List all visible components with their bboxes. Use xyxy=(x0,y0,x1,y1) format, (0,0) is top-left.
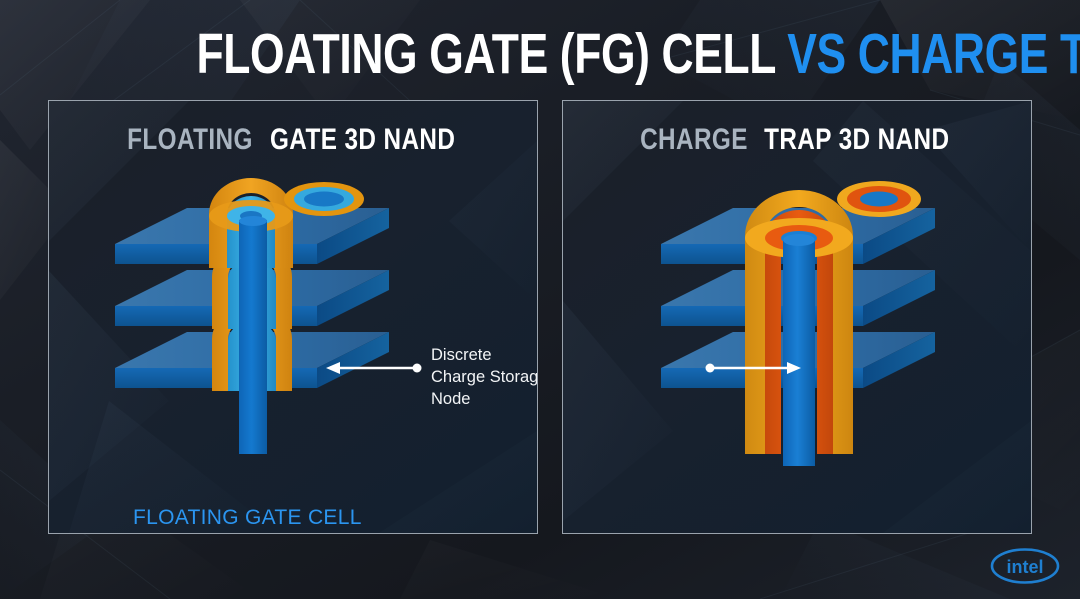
intel-logo: intel xyxy=(988,545,1062,587)
panel-left-header: FLOATING GATE 3D NAND xyxy=(49,123,537,157)
panel-right-header-bright: TRAP 3D NAND xyxy=(764,123,949,157)
list-left-title: FLOATING GATE CELL xyxy=(133,506,438,530)
ctf-channel-pillar xyxy=(783,239,815,466)
callout-left-line3: Node xyxy=(431,389,538,411)
panel-floating-gate: FLOATING GATE 3D NAND xyxy=(48,100,538,534)
page-title: FLOATING GATE (FG) CELL VS CHARGE TRAP F… xyxy=(0,26,1080,83)
callout-left-line2: Charge Storage xyxy=(431,367,538,389)
callout-discrete-charge-storage-node: Discrete Charge Storage Node xyxy=(431,345,538,411)
title-part-accent: VS CHARGE TRAP FLASH (CTF) CELL xyxy=(787,22,1080,86)
diagram-charge-trap-3d-nand xyxy=(633,176,963,481)
panel-right-header: CHARGE TRAP 3D NAND xyxy=(563,123,1031,157)
fg-torus-top-view xyxy=(284,182,364,216)
diagram-floating-gate-3d-nand xyxy=(87,176,417,481)
ctf-torus-top-view xyxy=(837,181,921,217)
list-floating-gate-cell: FLOATING GATE CELL ✓Good program/erase V… xyxy=(133,506,438,534)
panel-charge-trap: CHARGE TRAP 3D NAND xyxy=(562,100,1032,534)
fg-channel-pillar xyxy=(239,220,267,454)
panel-right-header-dim: CHARGE xyxy=(640,123,748,157)
panel-left-header-bright: GATE 3D NAND xyxy=(270,123,455,157)
leader-arrow-right xyxy=(703,356,803,380)
leader-arrow-left xyxy=(324,356,424,380)
title-part-primary: FLOATING GATE (FG) CELL xyxy=(196,22,787,86)
panel-left-header-dim: FLOATING xyxy=(127,123,253,157)
intel-logo-text: intel xyxy=(1006,557,1043,577)
callout-left-line1: Discrete xyxy=(431,345,538,367)
